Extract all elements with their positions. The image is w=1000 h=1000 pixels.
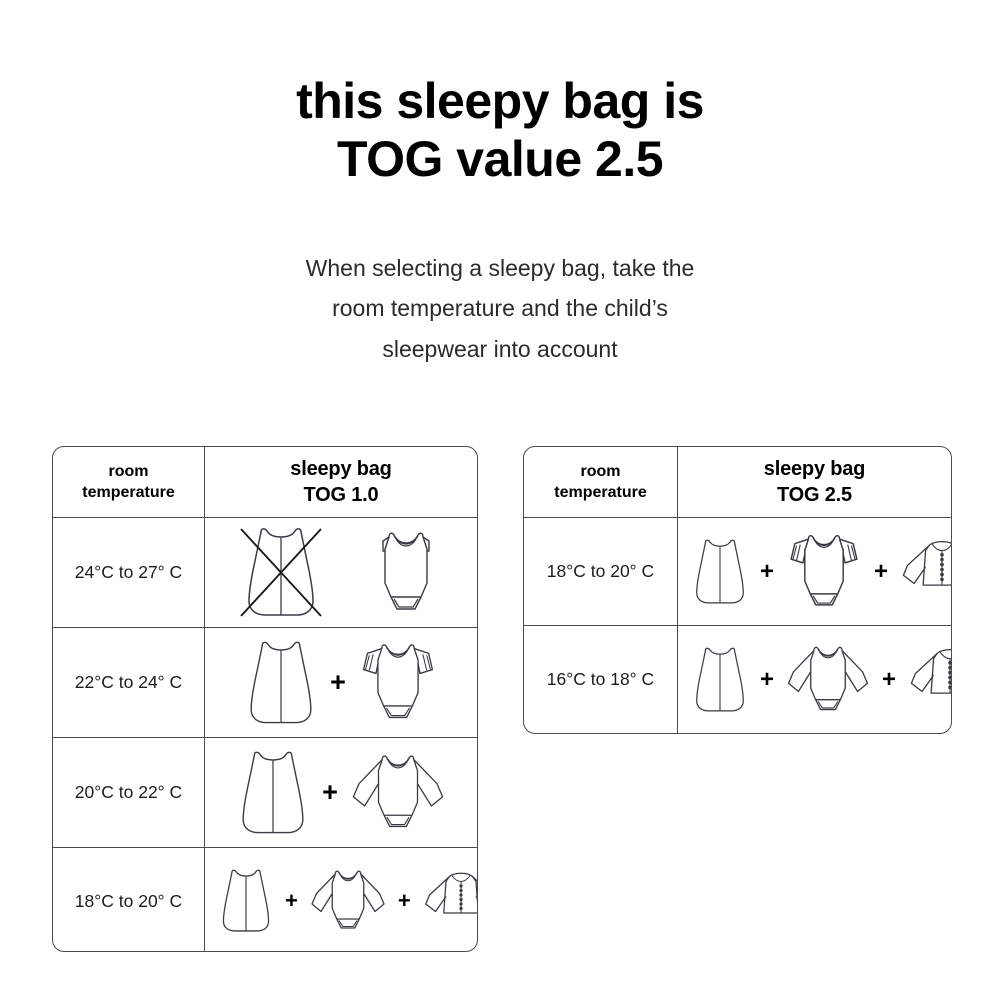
temperature-value: 16°C to 18° C [547,669,654,690]
plus-symbol: + [872,560,890,584]
page-subtitle-line-3: sleepwear into account [190,329,810,369]
page-subtitle-line-1: When selecting a sleepy bag, take the [190,248,810,288]
header-cell-sleepy-bag-tog: sleepy bag TOG 2.5 [677,447,951,517]
header-room-label: room [82,461,174,482]
header-cell-room-temperature: room temperature [524,447,677,517]
page-subtitle: When selecting a sleepy bag, take the ro… [190,248,810,369]
plus-symbol: + [758,668,776,692]
row-temperature-cell: 20°C to 22° C [53,738,204,847]
table-header-row: room temperature sleepy bag TOG 2.5 [524,447,951,517]
temperature-value: 18°C to 20° C [75,891,182,912]
cardigan-icon [896,528,952,616]
sleepy-bag-icon [240,637,322,729]
header-tog-value-label: TOG 2.5 [764,482,865,508]
temperature-value: 24°C to 27° C [75,562,182,583]
row-temperature-cell: 24°C to 27° C [53,518,204,627]
row-items-cell: + + [677,626,952,733]
row-temperature-cell: 18°C to 20° C [524,518,677,625]
sleepy-bag-crossed-out-icon [237,525,325,620]
row-temperature-cell: 16°C to 18° C [524,626,677,733]
header-sleepy-bag-label: sleepy bag [764,456,865,482]
header-cell-room-temperature: room temperature [53,447,204,517]
tog-guide-page: this sleepy bag is TOG value 2.5 When se… [0,0,1000,1000]
page-subtitle-line-2: room temperature and the child’s [190,288,810,328]
table-row: 22°C to 24° C + [53,627,477,737]
bodysuit-long-sleeve-icon [782,636,874,724]
plus-symbol: + [283,890,300,912]
cardigan-icon [904,636,952,724]
header-cell-sleepy-bag-tog: sleepy bag TOG 1.0 [204,447,477,517]
bodysuit-long-sleeve-icon [346,747,450,839]
row-items-cell: + + [677,518,952,625]
table-row: 24°C to 27° C [53,517,477,627]
sleepy-bag-icon [688,636,752,724]
temperature-value: 20°C to 22° C [75,782,182,803]
page-title-line-2: TOG value 2.5 [0,130,1000,188]
row-temperature-cell: 22°C to 24° C [53,628,204,737]
plus-symbol: + [328,669,348,696]
table-header-row: room temperature sleepy bag TOG 1.0 [53,447,477,517]
plus-symbol: + [320,779,340,806]
header-temperature-label: temperature [82,482,174,503]
plus-symbol: + [880,668,898,692]
page-title-line-1: this sleepy bag is [0,72,1000,130]
tog-1-0-table: room temperature sleepy bag TOG 1.0 24°C… [52,446,478,952]
row-items-cell [204,518,477,627]
tog-2-5-table: room temperature sleepy bag TOG 2.5 18°C… [523,446,952,734]
header-tog-value-label: TOG 1.0 [290,482,391,508]
table-row: 18°C to 20° C + [524,517,951,625]
row-items-cell: + [204,628,477,737]
sleepy-bag-icon [215,861,277,941]
sleepy-bag-icon [688,528,752,616]
bodysuit-short-sleeve-icon [354,637,442,729]
cardigan-icon [419,861,478,941]
row-items-cell: + + [204,848,478,952]
temperature-value: 18°C to 20° C [547,561,654,582]
table-row: 16°C to 18° C + [524,625,951,733]
sleepy-bag-icon [232,747,314,839]
bodysuit-long-sleeve-icon [306,861,390,941]
plus-symbol: + [758,560,776,584]
header-sleepy-bag-label: sleepy bag [290,456,391,482]
header-temperature-label: temperature [554,482,646,503]
page-title: this sleepy bag is TOG value 2.5 [0,72,1000,188]
row-items-cell: + [204,738,477,847]
bodysuit-sleeveless-icon [367,527,445,619]
table-row: 20°C to 22° C + [53,737,477,847]
bodysuit-short-sleeve-icon [782,528,866,616]
plus-symbol: + [396,890,413,912]
header-room-label: room [554,461,646,482]
row-temperature-cell: 18°C to 20° C [53,848,204,952]
temperature-value: 22°C to 24° C [75,672,182,693]
table-row: 18°C to 20° C + [53,847,477,952]
